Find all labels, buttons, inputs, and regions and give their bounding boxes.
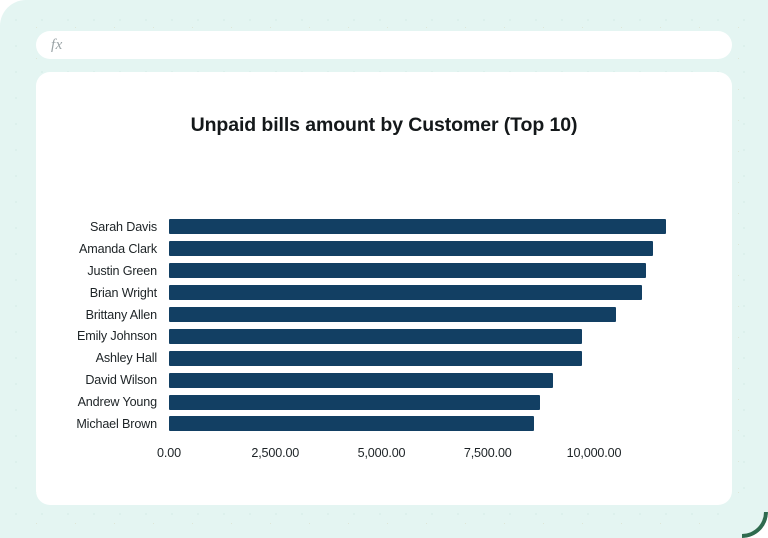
bar[interactable]	[169, 395, 540, 410]
x-axis-tick: 0.00	[157, 446, 181, 460]
y-axis-label: Andrew Young	[78, 395, 163, 409]
app-root: fx Unpaid bills amount by Customer (Top …	[0, 0, 768, 538]
bar[interactable]	[169, 373, 553, 388]
y-axis-label-row: David Wilson	[36, 369, 163, 391]
y-axis-label: Ashley Hall	[96, 351, 163, 365]
y-axis-label-row: Emily Johnson	[36, 325, 163, 347]
y-axis-label: Brian Wright	[90, 286, 163, 300]
x-axis-tick: 2,500.00	[251, 446, 299, 460]
bar-row	[169, 413, 699, 435]
bar[interactable]	[169, 219, 666, 234]
bar-row	[169, 304, 699, 326]
y-axis-label-row: Andrew Young	[36, 391, 163, 413]
bar-row	[169, 325, 699, 347]
formula-input[interactable]	[73, 37, 716, 54]
bar[interactable]	[169, 285, 642, 300]
bar-row	[169, 238, 699, 260]
x-axis-tick-labels: 0.002,500.005,000.007,500.0010,000.00	[169, 446, 699, 466]
bar-row	[169, 369, 699, 391]
bar[interactable]	[169, 416, 534, 431]
y-axis-label: Amanda Clark	[79, 242, 163, 256]
y-axis-label: Brittany Allen	[86, 308, 163, 322]
formula-bar[interactable]: fx	[36, 31, 732, 59]
bar[interactable]	[169, 307, 616, 322]
y-axis-label: Justin Green	[87, 264, 163, 278]
x-axis-tick: 5,000.00	[358, 446, 406, 460]
x-axis-tick: 10,000.00	[567, 446, 622, 460]
bar[interactable]	[169, 263, 646, 278]
bar-row	[169, 216, 699, 238]
y-axis-label-row: Amanda Clark	[36, 238, 163, 260]
x-axis-tick: 7,500.00	[464, 446, 512, 460]
chart-card: Unpaid bills amount by Customer (Top 10)…	[36, 72, 732, 505]
y-axis-label-row: Michael Brown	[36, 413, 163, 435]
bar[interactable]	[169, 241, 653, 256]
y-axis-label-row: Justin Green	[36, 260, 163, 282]
bar-row	[169, 260, 699, 282]
bar-series	[169, 216, 699, 435]
y-axis-label: Michael Brown	[76, 417, 163, 431]
y-axis-label: David Wilson	[85, 373, 163, 387]
y-axis-label: Emily Johnson	[77, 329, 163, 343]
y-axis-label: Sarah Davis	[90, 220, 163, 234]
bar[interactable]	[169, 329, 582, 344]
y-axis-label-row: Brian Wright	[36, 282, 163, 304]
y-axis-label-row: Sarah Davis	[36, 216, 163, 238]
y-axis-label-row: Brittany Allen	[36, 304, 163, 326]
fx-icon: fx	[51, 37, 63, 54]
bar-row	[169, 347, 699, 369]
bar-row	[169, 391, 699, 413]
y-axis-label-row: Ashley Hall	[36, 347, 163, 369]
bar-chart-plot: Sarah DavisAmanda ClarkJustin GreenBrian…	[36, 72, 732, 505]
bar[interactable]	[169, 351, 582, 366]
bar-row	[169, 282, 699, 304]
y-axis-category-labels: Sarah DavisAmanda ClarkJustin GreenBrian…	[36, 216, 163, 435]
